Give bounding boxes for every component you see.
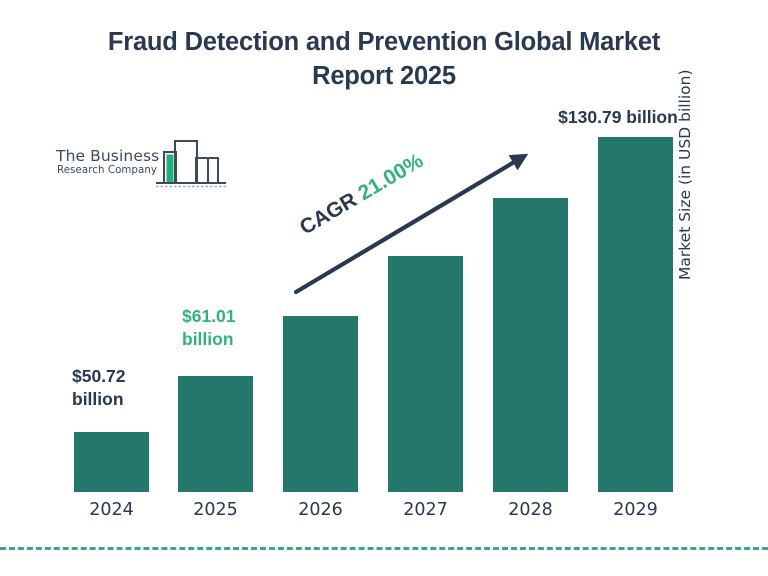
bar-2025 [178, 376, 253, 492]
bar-2028 [493, 198, 568, 492]
bar-2029 [598, 137, 673, 492]
bar-2026 [283, 316, 358, 492]
bar-2027 [388, 256, 463, 492]
cagr-label: CAGR [296, 188, 361, 239]
bottom-divider [0, 547, 768, 550]
bar-chart-plot-area: $50.72 billion $61.01 billion $130.79 bi… [0, 0, 768, 576]
chart-page: Fraud Detection and Prevention Global Ma… [0, 0, 768, 576]
y-axis-title: Market Size (in USD billion) [676, 30, 694, 280]
value-label-2025: $61.01 billion [182, 305, 282, 351]
cagr-value: 21.00% [354, 149, 427, 205]
x-tick-2028: 2028 [493, 500, 568, 520]
x-tick-2029: 2029 [598, 500, 673, 520]
x-tick-2026: 2026 [283, 500, 358, 520]
value-label-2024: $50.72 billion [72, 365, 172, 411]
x-tick-2024: 2024 [74, 500, 149, 520]
bar-2024 [74, 432, 149, 492]
x-tick-2025: 2025 [178, 500, 253, 520]
x-tick-2027: 2027 [388, 500, 463, 520]
cagr-annotation: CAGR 21.00% [296, 149, 428, 240]
